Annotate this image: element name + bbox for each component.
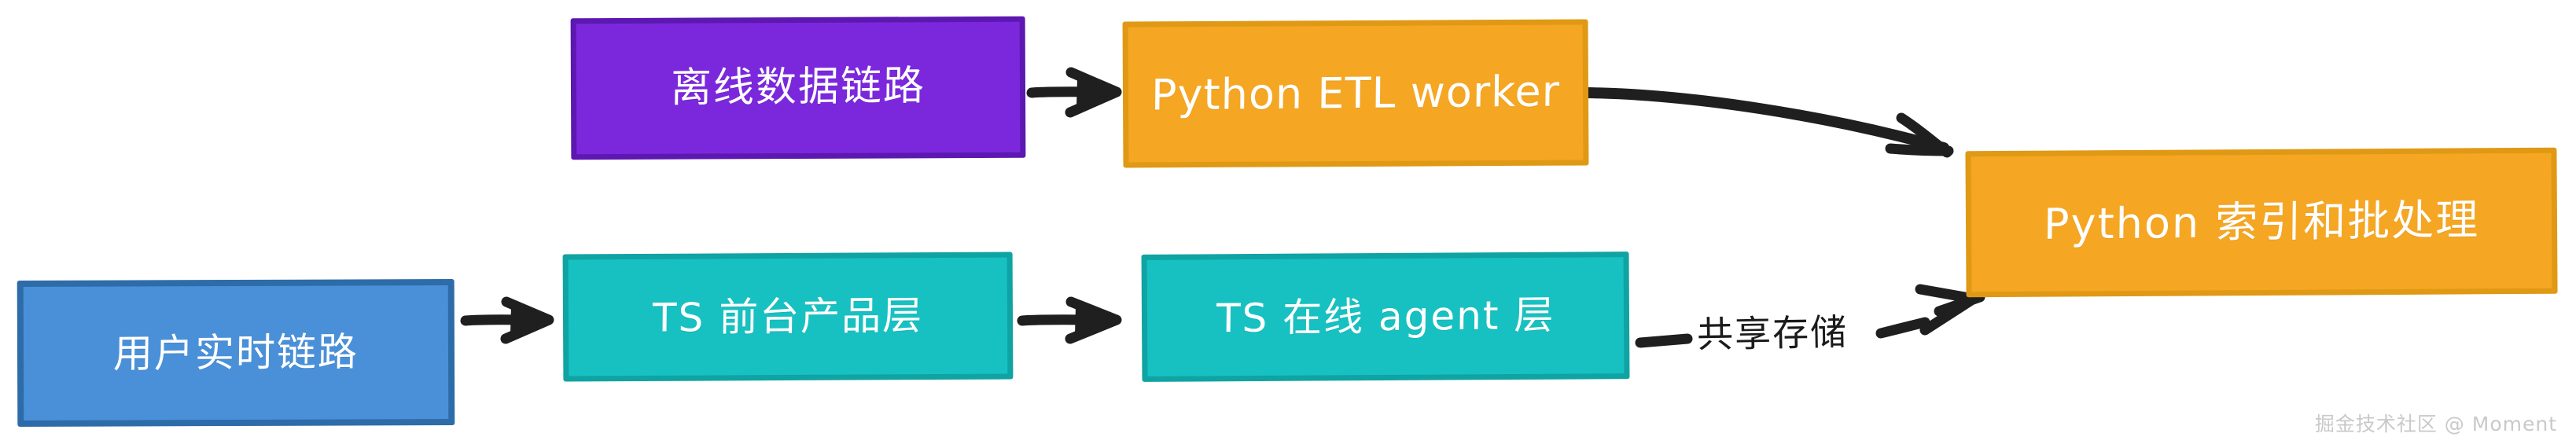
watermark: 掘金技术社区 @ Moment — [2315, 409, 2557, 437]
node-offline-data-pipeline[interactable]: 离线数据链路 — [571, 17, 1026, 160]
node-ts-online-agent-layer[interactable]: TS 在线 agent 层 — [1142, 252, 1630, 382]
edge-label-shared-storage: 共享存储 — [1696, 303, 1848, 358]
node-python-index-batch-label: Python 索引和批处理 — [2043, 196, 2479, 248]
node-ts-frontend-product-layer-label: TS 前台产品层 — [653, 294, 924, 340]
node-python-etl-worker[interactable]: Python ETL worker — [1123, 19, 1589, 167]
node-user-realtime-pipeline-label: 用户实时链路 — [113, 330, 359, 375]
node-python-etl-worker-label: Python ETL worker — [1151, 68, 1561, 119]
node-ts-frontend-product-layer[interactable]: TS 前台产品层 — [563, 252, 1014, 382]
node-offline-data-pipeline-label: 离线数据链路 — [671, 64, 926, 112]
diagram-canvas: 离线数据链路 Python ETL worker Python 索引和批处理 用… — [0, 0, 2576, 448]
edge-offline-to-etl — [1032, 72, 1117, 112]
edge-realtime-to-frontend — [466, 302, 549, 339]
edge-frontend-to-agent — [1022, 302, 1117, 339]
edge-etl-to-index — [1587, 93, 1949, 152]
node-python-index-batch[interactable]: Python 索引和批处理 — [1965, 148, 2557, 298]
node-ts-online-agent-layer-label: TS 在线 agent 层 — [1216, 293, 1555, 340]
node-user-realtime-pipeline[interactable]: 用户实时链路 — [17, 279, 455, 427]
